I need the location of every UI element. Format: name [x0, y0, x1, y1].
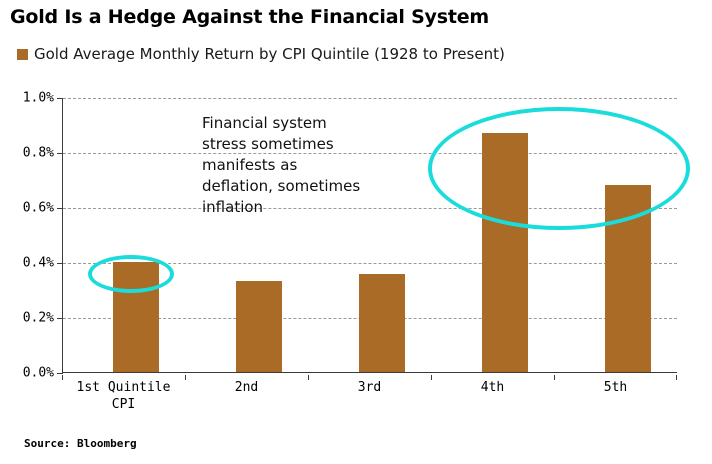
x-tick-label-1st-quintile-cpi: 1st Quintile CPI [62, 379, 185, 413]
highlight-ellipse-fourth-fifth-quintile [428, 107, 690, 230]
y-tick-mark [57, 153, 63, 154]
y-tick-label: 1.0% [6, 91, 54, 106]
legend-swatch-icon [17, 49, 28, 60]
y-tick-label: 0.2% [6, 311, 54, 326]
y-tick-mark [57, 318, 63, 319]
y-tick-label: 0.8% [6, 146, 54, 161]
y-tick-label: 0.6% [6, 201, 54, 216]
annotation-text: Financial system stress sometimes manife… [202, 113, 372, 218]
y-tick-mark [57, 98, 63, 99]
x-axis: 1st Quintile CPI 2nd 3rd 4th 5th [62, 375, 677, 415]
y-tick-mark [57, 208, 63, 209]
source-note: Source: Bloomberg [24, 437, 137, 450]
x-tick-label-2nd: 2nd [185, 379, 308, 396]
gridline [63, 98, 677, 99]
y-tick-mark [57, 373, 63, 374]
highlight-ellipse-first-quintile [88, 255, 174, 293]
y-tick-label: 0.0% [6, 366, 54, 381]
x-tick-label-5th: 5th [554, 379, 677, 396]
x-tick-label-3rd: 3rd [308, 379, 431, 396]
x-tick-label-4th: 4th [431, 379, 554, 396]
bar-3rd[interactable] [359, 274, 405, 372]
chart-legend: Gold Average Monthly Return by CPI Quint… [17, 45, 505, 63]
bar-2nd[interactable] [236, 281, 282, 372]
y-tick-mark [57, 263, 63, 264]
y-tick-label: 0.4% [6, 256, 54, 271]
y-axis: 1.0% 0.8% 0.6% 0.4% 0.2% 0.0% [0, 98, 54, 373]
legend-label: Gold Average Monthly Return by CPI Quint… [34, 45, 505, 63]
page-title: Gold Is a Hedge Against the Financial Sy… [10, 6, 489, 28]
